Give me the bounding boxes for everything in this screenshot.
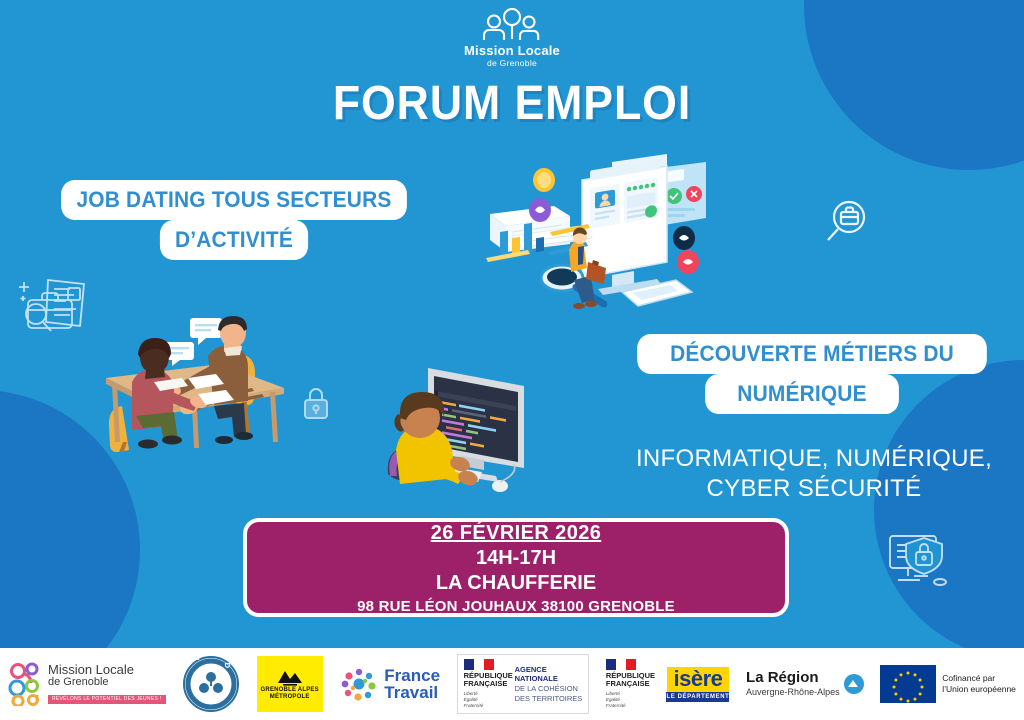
event-venue: LA CHAUFFERIE — [436, 572, 596, 595]
cv-briefcase-search-icon — [14, 274, 92, 342]
header-mission-locale-logo: Mission Locale de Grenoble — [0, 8, 1024, 68]
republique-francaise-logo: RÉPUBLIQUE FRANÇAISE Liberté Égalité Fra… — [606, 659, 650, 710]
la-region-auvergne-rhone-alpes-logo: La Région Auvergne-Rhône-Alpes — [746, 670, 864, 697]
anct-line1: AGENCE — [515, 665, 583, 675]
anct-motto3: Fraternité — [464, 703, 508, 709]
rf-marianne-mark: RÉPUBLIQUE FRANÇAISE Liberté Égalité Fra… — [464, 659, 508, 710]
event-address: 98 RUE LÉON JOUHAUX 38100 GRENOBLE — [357, 598, 675, 615]
poster: Mission Locale de Grenoble FORUM EMPLOI … — [0, 0, 1024, 720]
chip-job-dating-line2: D’ACTIVITÉ — [160, 220, 308, 260]
rf2-motto3: Fraternité — [606, 703, 650, 709]
event-info-box: 26 FÉVRIER 2026 14H-17H LA CHAUFFERIE 98… — [243, 518, 789, 617]
briefcase-magnifier-icon — [822, 196, 874, 248]
computer-shield-lock-icon — [884, 530, 960, 592]
developer-coding-illustration — [376, 356, 538, 508]
numerique-subtitle: INFORMATIQUE, NUMÉRIQUE, CYBER SÉCURITÉ — [614, 444, 1014, 504]
ville-de-grenoble-logo: VILLE DE GRENOBLE — [182, 655, 240, 713]
chip-numerique-line2: NUMÉRIQUE — [705, 374, 899, 414]
rf-marianne-mark-2: RÉPUBLIQUE FRANÇAISE Liberté Égalité Fra… — [606, 659, 650, 710]
isere-subtitle: LE DÉPARTEMENT — [666, 692, 729, 702]
france-travail-line2: Travail — [384, 684, 440, 701]
ville-de-grenoble-seal-icon: VILLE DE GRENOBLE — [182, 655, 240, 713]
french-flag-icon-2 — [606, 659, 636, 670]
mission-locale-grenoble-logo: Mission Locale de Grenoble RÉVÉLONS LE P… — [8, 662, 166, 706]
event-date: 26 FÉVRIER 2026 — [431, 522, 602, 545]
mission-locale-circles-icon — [8, 662, 42, 706]
chip-job-dating-line1: JOB DATING TOUS SECTEURS — [61, 180, 407, 220]
numerique-subtitle-line2: CYBER SÉCURITÉ — [614, 474, 1014, 504]
region-line1: La Région — [746, 670, 840, 687]
metropole-mountain-icon — [275, 667, 305, 687]
grenoble-alpes-metropole-logo: GRENOBLE ALPES MÉTROPOLE — [257, 656, 323, 712]
padlock-icon — [300, 386, 332, 422]
anct-line3: DE LA COHÉSION — [515, 684, 583, 694]
header-logo-subtitle: de Grenoble — [487, 58, 537, 68]
france-travail-logo: France Travail — [339, 664, 440, 704]
page-title: FORUM EMPLOI — [36, 76, 988, 131]
union-europeenne-cofinance-logo: Cofinancé par l’Union européenne — [880, 665, 1016, 703]
anct-rf-line2: FRANÇAISE — [464, 680, 508, 689]
region-mountain-icon — [844, 674, 864, 694]
france-travail-dots-icon — [339, 664, 379, 704]
job-interview-illustration — [92, 306, 294, 452]
ml-footer-title: Mission Locale — [48, 663, 166, 677]
eu-line2: l’Union européenne — [942, 684, 1016, 695]
partner-logos-footer: Mission Locale de Grenoble RÉVÉLONS LE P… — [0, 648, 1024, 720]
rf2-line2: FRANÇAISE — [606, 680, 650, 689]
anct-line2: NATIONALE — [515, 674, 583, 684]
chip-numerique-line1: DÉCOUVERTE MÉTIERS DU — [637, 334, 987, 374]
agence-nationale-cohesion-territoires-logo: RÉPUBLIQUE FRANÇAISE Liberté Égalité Fra… — [457, 654, 590, 715]
numerique-subtitle-line1: INFORMATIQUE, NUMÉRIQUE, — [614, 444, 1014, 474]
ml-footer-tagline: RÉVÉLONS LE POTENTIEL DES JEUNES ! — [48, 695, 166, 704]
french-flag-icon — [464, 659, 494, 670]
france-travail-line1: France — [384, 667, 440, 684]
anct-line4: DES TERRITOIRES — [515, 694, 583, 704]
metropole-line1: GRENOBLE ALPES — [261, 687, 319, 695]
eu-flag-icon — [880, 665, 936, 703]
header-logo-name: Mission Locale — [464, 43, 560, 58]
metropole-line2: MÉTROPOLE — [261, 694, 319, 702]
region-line2: Auvergne-Rhône-Alpes — [746, 687, 840, 698]
isere-le-departement-logo: isère LE DÉPARTEMENT — [666, 667, 729, 702]
event-hours: 14H-17H — [476, 547, 556, 570]
isere-title: isère — [667, 667, 730, 692]
eu-line1: Cofinancé par — [942, 673, 1016, 684]
ml-footer-subtitle: de Grenoble — [48, 677, 166, 689]
job-search-isometric-illustration — [462, 140, 712, 322]
mission-locale-people-icon — [481, 8, 543, 42]
anct-agency-name: AGENCE NATIONALE DE LA COHÉSION DES TERR… — [515, 665, 583, 704]
